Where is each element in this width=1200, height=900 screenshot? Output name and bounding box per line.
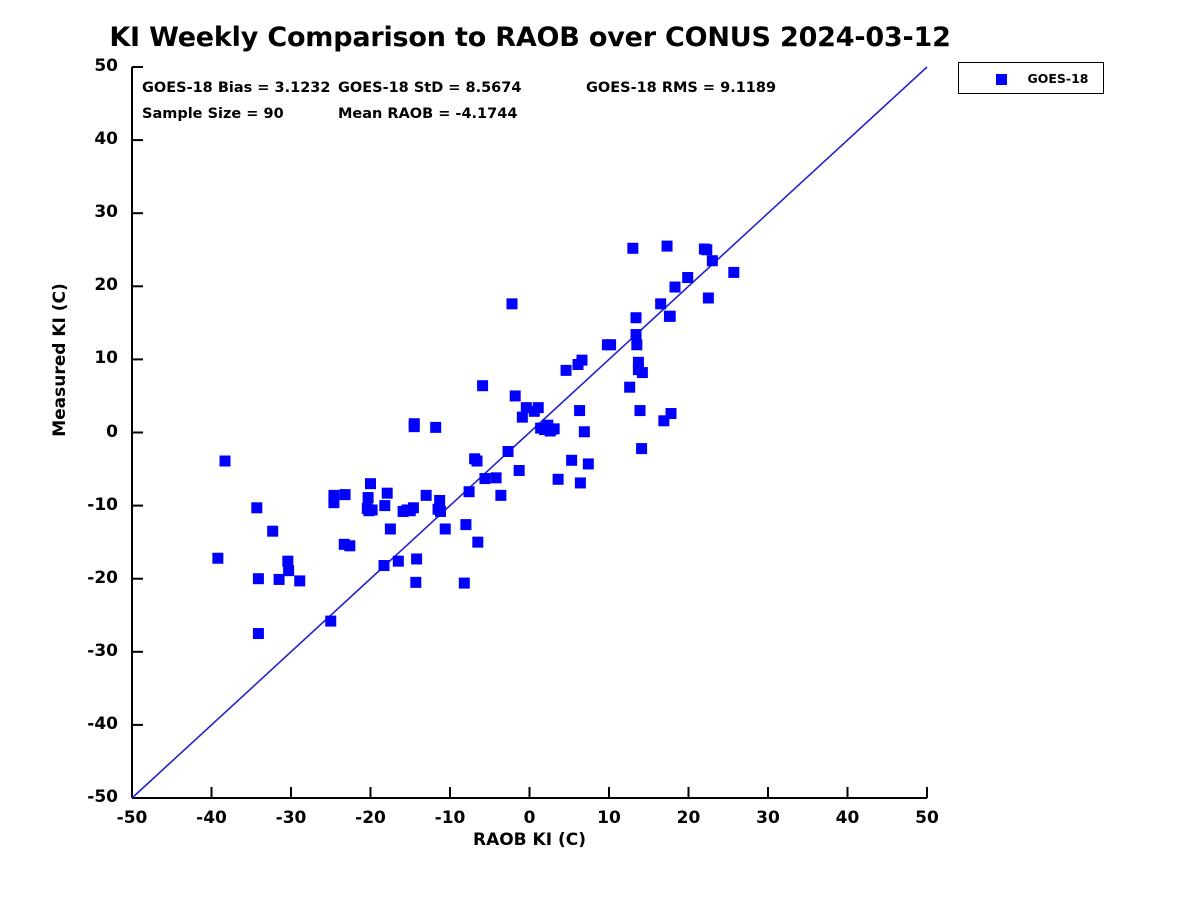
- scatter-marker: [707, 255, 718, 266]
- reference-line: [132, 67, 927, 798]
- legend[interactable]: GOES-18: [958, 62, 1104, 94]
- data-points: [212, 241, 739, 639]
- scatter-marker: [665, 311, 676, 322]
- scatter-marker: [514, 465, 525, 476]
- scatter-marker: [411, 553, 422, 564]
- scatter-marker: [435, 506, 446, 517]
- scatter-marker: [510, 390, 521, 401]
- scatter-marker: [579, 426, 590, 437]
- scatter-marker: [434, 495, 445, 506]
- scatter-marker: [728, 267, 739, 278]
- scatter-marker: [274, 574, 285, 585]
- scatter-marker: [495, 490, 506, 501]
- scatter-marker: [549, 423, 560, 434]
- scatter-marker: [460, 519, 471, 530]
- y-tick-label: -40: [58, 714, 118, 734]
- scatter-marker: [365, 478, 376, 489]
- scatter-marker: [631, 329, 642, 340]
- scatter-marker: [379, 560, 390, 571]
- y-tick-label: -10: [58, 495, 118, 515]
- x-tick-label: 10: [579, 808, 639, 828]
- x-tick-label: 0: [500, 808, 560, 828]
- scatter-marker: [561, 365, 572, 376]
- scatter-marker: [477, 380, 488, 391]
- scatter-marker: [382, 488, 393, 499]
- x-tick-label: 40: [818, 808, 878, 828]
- y-tick-label: -30: [58, 641, 118, 661]
- scatter-marker: [408, 502, 419, 513]
- scatter-marker: [379, 500, 390, 511]
- scatter-marker: [220, 456, 231, 467]
- scatter-marker: [325, 616, 336, 627]
- scatter-marker: [367, 504, 378, 515]
- scatter-marker: [212, 553, 223, 564]
- scatter-marker: [282, 556, 293, 567]
- scatter-marker: [633, 357, 644, 368]
- x-tick-label: -20: [341, 808, 401, 828]
- scatter-marker: [503, 446, 514, 457]
- chart-figure: KI Weekly Comparison to RAOB over CONUS …: [0, 0, 1200, 900]
- scatter-marker: [479, 473, 490, 484]
- x-tick-label: 30: [738, 808, 798, 828]
- scatter-marker: [576, 355, 587, 366]
- scatter-marker: [669, 282, 680, 293]
- y-tick-label: 50: [58, 56, 118, 76]
- scatter-marker: [267, 526, 278, 537]
- scatter-marker: [251, 502, 262, 513]
- scatter-marker: [459, 578, 470, 589]
- y-tick-label: -20: [58, 568, 118, 588]
- scatter-marker: [409, 418, 420, 429]
- x-tick-label: 20: [659, 808, 719, 828]
- scatter-marker: [624, 382, 635, 393]
- x-tick-label: 50: [897, 808, 957, 828]
- scatter-marker: [253, 573, 264, 584]
- scatter-marker: [328, 497, 339, 508]
- scatter-marker: [430, 422, 441, 433]
- scatter-marker: [294, 575, 305, 586]
- y-tick-label: 0: [58, 422, 118, 442]
- scatter-marker: [340, 489, 351, 500]
- scatter-marker: [662, 241, 673, 252]
- scatter-marker: [283, 565, 294, 576]
- x-tick-label: -30: [261, 808, 321, 828]
- scatter-marker: [472, 537, 483, 548]
- scatter-marker: [440, 523, 451, 534]
- x-tick-label: -50: [102, 808, 162, 828]
- scatter-marker: [636, 443, 647, 454]
- scatter-marker: [575, 477, 586, 488]
- scatter-marker: [666, 408, 677, 419]
- scatter-marker: [253, 628, 264, 639]
- scatter-marker: [566, 455, 577, 466]
- scatter-marker: [637, 367, 648, 378]
- scatter-marker: [472, 456, 483, 467]
- scatter-marker: [631, 339, 642, 350]
- scatter-marker: [627, 243, 638, 254]
- legend-swatch-goes18: [996, 74, 1007, 85]
- scatter-marker: [385, 523, 396, 534]
- y-tick-label: -50: [58, 787, 118, 807]
- y-tick-label: 30: [58, 202, 118, 222]
- scatter-marker: [507, 298, 518, 309]
- scatter-marker: [682, 272, 693, 283]
- scatter-marker: [553, 474, 564, 485]
- scatter-marker: [574, 405, 585, 416]
- scatter-marker: [363, 492, 374, 503]
- scatter-marker: [635, 405, 646, 416]
- scatter-marker: [464, 486, 475, 497]
- x-tick-label: -40: [182, 808, 242, 828]
- scatter-marker: [344, 540, 355, 551]
- legend-label-goes18: GOES-18: [1019, 71, 1097, 86]
- scatter-marker: [491, 472, 502, 483]
- y-tick-label: 40: [58, 129, 118, 149]
- scatter-marker: [631, 312, 642, 323]
- y-tick-label: 20: [58, 275, 118, 295]
- scatter-marker: [410, 577, 421, 588]
- scatter-marker: [421, 490, 432, 501]
- plot-canvas: [0, 0, 1200, 900]
- scatter-marker: [703, 292, 714, 303]
- y-tick-label: 10: [58, 348, 118, 368]
- scatter-marker: [655, 298, 666, 309]
- scatter-marker: [393, 556, 404, 567]
- scatter-marker: [517, 412, 528, 423]
- scatter-marker: [583, 458, 594, 469]
- scatter-marker: [701, 244, 712, 255]
- x-tick-label: -10: [420, 808, 480, 828]
- scatter-marker: [533, 402, 544, 413]
- scatter-marker: [605, 339, 616, 350]
